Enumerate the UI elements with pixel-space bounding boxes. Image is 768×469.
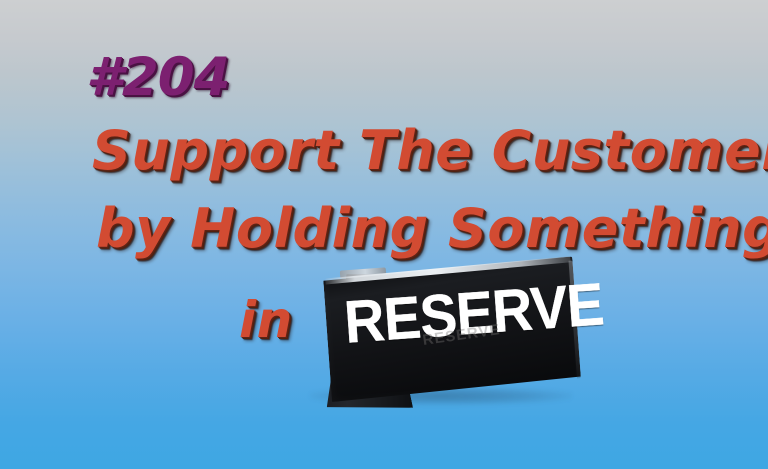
sign-front-panel: RESERVE RESERVE <box>323 256 582 402</box>
issue-number: #204 <box>86 51 230 104</box>
poster-canvas: #204 Support The Customer by Holding Som… <box>0 0 768 469</box>
headline-line-2: by Holding Something <box>96 202 768 256</box>
reserve-tent-sign: RESERVE RESERVE <box>296 266 586 421</box>
sign-word-reserve: RESERVE <box>342 278 561 353</box>
headline-line-3: in <box>239 295 293 345</box>
headline-line-1: Support The Customer <box>92 124 768 178</box>
